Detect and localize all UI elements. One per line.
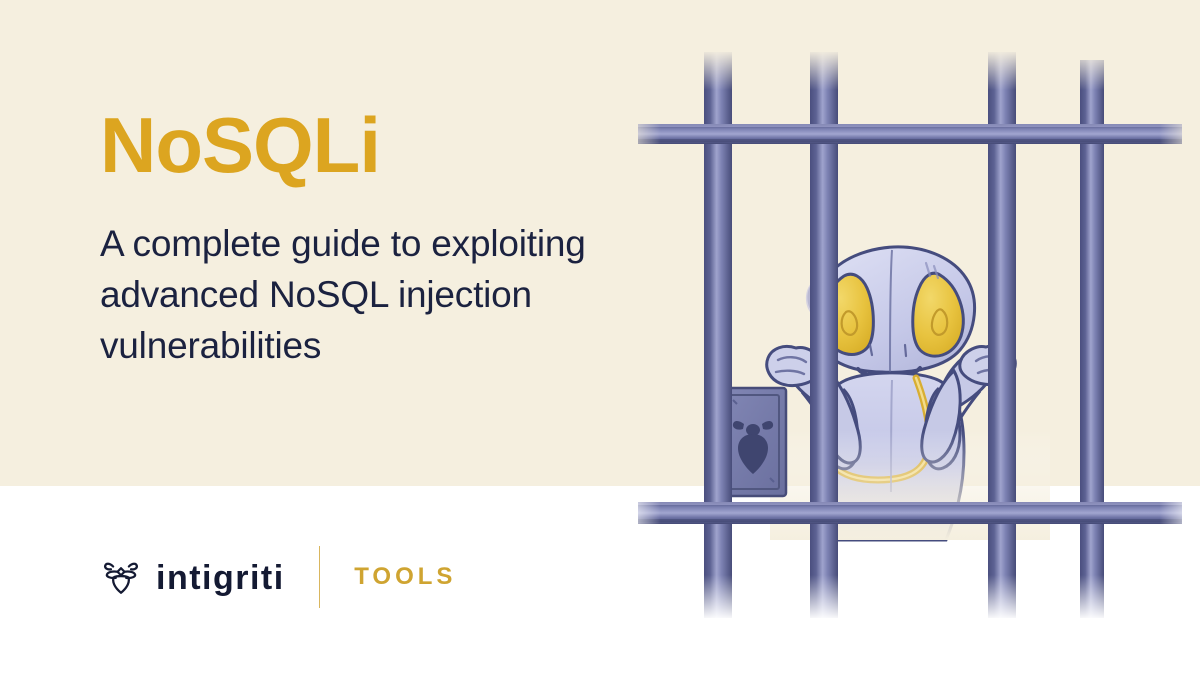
brand-divider [319,546,321,608]
brand-footer: intigriti TOOLS [100,545,456,609]
brand-tag-tools: TOOLS [354,563,456,591]
poster-canvas: NoSQLi A complete guide to exploiting ad… [0,0,1200,675]
hero-text-block: NoSQLi A complete guide to exploiting ad… [100,108,720,371]
intigriti-logo[interactable]: intigriti [100,556,285,598]
bottom-crossbar [638,502,1182,524]
page-title: NoSQLi [100,108,720,182]
page-subtitle: A complete guide to exploiting advanced … [100,218,700,371]
intigriti-wordmark: intigriti [156,561,285,595]
bee-icon [100,556,142,598]
